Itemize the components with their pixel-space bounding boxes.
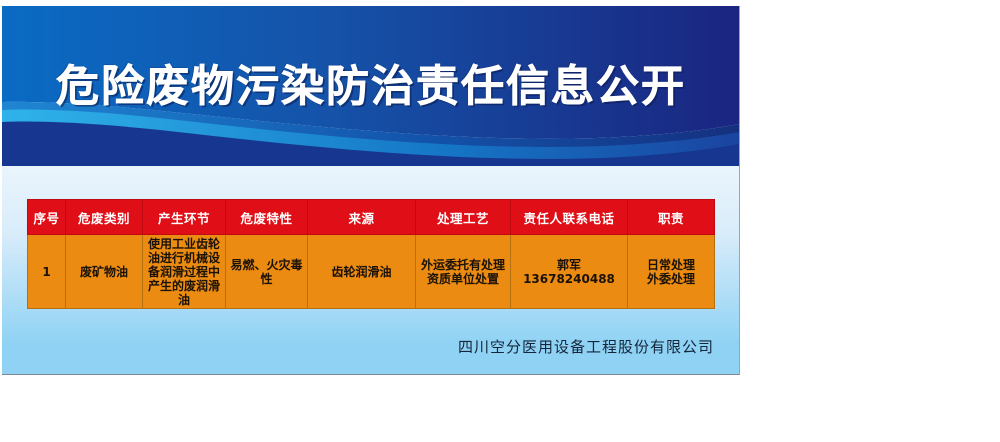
cell-source: 齿轮润滑油 — [308, 235, 416, 309]
column-header-property: 危废特性 — [226, 200, 308, 235]
cell-category: 废矿物油 — [66, 235, 143, 309]
cell-generation-stage: 使用工业齿轮油进行机械设备润滑过程中产生的废润滑油 — [143, 235, 226, 309]
information-disclosure-poster: 危险废物污染防治责任信息公开 序号 危废类别 产生环节 危废特性 来源 处理工艺… — [2, 6, 740, 375]
duty-line-1: 日常处理 — [630, 258, 712, 272]
column-header-category: 危废类别 — [66, 200, 143, 235]
column-header-treatment: 处理工艺 — [416, 200, 511, 235]
cell-duty: 日常处理 外委处理 — [628, 235, 715, 309]
table-row: 1 废矿物油 使用工业齿轮油进行机械设备润滑过程中产生的废润滑油 易燃、火灾毒性… — [28, 235, 715, 309]
column-header-source: 来源 — [308, 200, 416, 235]
contact-name: 郭军 — [513, 258, 625, 272]
column-header-contact: 责任人联系电话 — [511, 200, 628, 235]
page-title: 危险废物污染防治责任信息公开 — [2, 52, 740, 114]
cell-hazard-property: 易燃、火灾毒性 — [226, 235, 308, 309]
duty-line-2: 外委处理 — [630, 272, 712, 286]
column-header-stage: 产生环节 — [143, 200, 226, 235]
contact-phone: 13678240488 — [513, 272, 625, 286]
company-name: 四川空分医用设备工程股份有限公司 — [2, 336, 714, 357]
hazardous-waste-table: 序号 危废类别 产生环节 危废特性 来源 处理工艺 责任人联系电话 职责 1 废… — [27, 199, 715, 309]
column-header-index: 序号 — [28, 200, 66, 235]
table-header-row: 序号 危废类别 产生环节 危废特性 来源 处理工艺 责任人联系电话 职责 — [28, 200, 715, 235]
title-banner: 危险废物污染防治责任信息公开 — [2, 6, 740, 166]
cell-index: 1 — [28, 235, 66, 309]
cell-treatment-process: 外运委托有处理资质单位处置 — [416, 235, 511, 309]
cell-contact: 郭军 13678240488 — [511, 235, 628, 309]
column-header-duty: 职责 — [628, 200, 715, 235]
